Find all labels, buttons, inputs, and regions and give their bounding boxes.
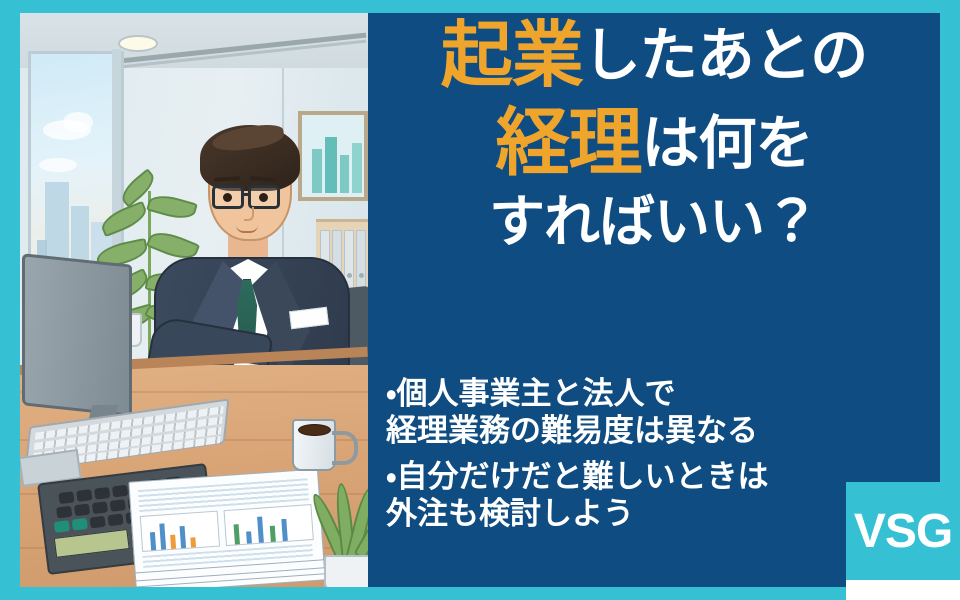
- headline-line-1: 起業したあとの: [368, 20, 940, 92]
- office-plant-right: [312, 481, 368, 587]
- computer-monitor: [22, 253, 132, 417]
- page-title: 起業したあとの 経理は何を すればいい？: [368, 20, 940, 250]
- logo-bottom-spacer: [846, 580, 960, 600]
- eye-left: [223, 193, 232, 202]
- ceiling-downlight-icon: [118, 35, 158, 52]
- headline-rest-1: したあとの: [583, 23, 867, 88]
- bullet-item: ・自分だけだと難しいときは 外注も検討しよう: [386, 459, 886, 532]
- nose: [244, 207, 254, 221]
- coffee-surface: [298, 424, 331, 436]
- bullet-item: ・個人事業主と法人で 経理業務の難易度は異なる: [386, 376, 886, 449]
- vsg-logo-text: VSG: [854, 504, 952, 559]
- bullet-list: ・個人事業主と法人で 経理業務の難易度は異なる ・自分だけだと難しいときは 外注…: [386, 376, 886, 542]
- calculator-display: [54, 529, 130, 558]
- glasses-bridge: [243, 193, 250, 196]
- mug-handle: [332, 431, 358, 465]
- thumbnail-canvas: 起業したあとの 経理は何を すればいい？ ・個人事業主と法人で 経理業務の難易度…: [0, 0, 960, 600]
- coffee-mug: [292, 419, 336, 471]
- cloud: [63, 112, 93, 132]
- cloud: [39, 158, 77, 172]
- headline-line-2: 経理は何を: [368, 106, 940, 180]
- eye-right: [259, 193, 268, 202]
- headline-rest-2: は何を: [641, 111, 812, 176]
- headline-accent-2: 経理: [495, 101, 641, 184]
- financial-documents-stack: [128, 469, 325, 587]
- headline-accent-1: 起業: [441, 16, 583, 96]
- headline-line-3: すればいい？: [368, 194, 940, 250]
- office-illustration: [20, 13, 368, 587]
- vsg-logo: VSG: [846, 482, 960, 580]
- plant-pot: [324, 555, 368, 587]
